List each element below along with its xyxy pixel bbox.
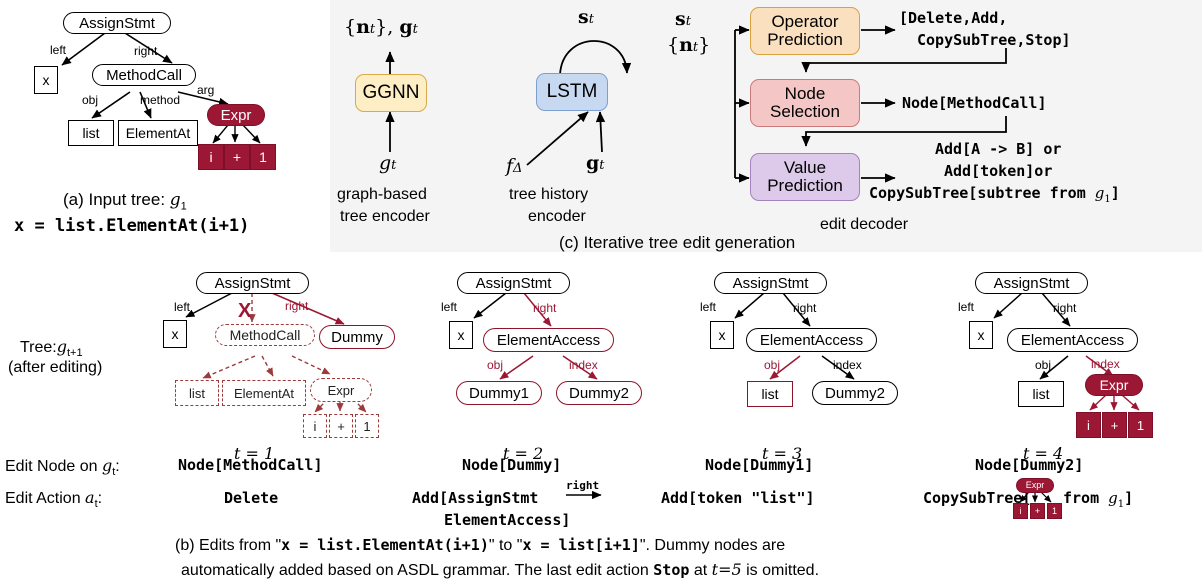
ggnn-label: GGNN [363, 83, 420, 103]
operator-prediction-line1: Operator [767, 13, 843, 31]
node-label: Dummy [331, 330, 383, 345]
node-label: MethodCall [106, 68, 182, 83]
caption-part: at [689, 562, 711, 579]
edit-action-value-t1: Delete [224, 489, 278, 507]
tree-row-label-text: Tree: [20, 339, 57, 356]
node-x-a: x [34, 66, 58, 94]
ggnn-output-label: {nt}, gt [344, 16, 418, 38]
operator-prediction-box: Operator Prediction [750, 7, 860, 55]
node-label: i [209, 150, 212, 164]
node-elementat-t1: ElementAt [222, 380, 306, 406]
node-label: ElementAt [126, 126, 191, 140]
edit-action-value-t3: Add[token "list"] [661, 489, 815, 507]
node-label: Dummy2 [569, 386, 629, 401]
node-selection-box: Node Selection [750, 79, 860, 127]
node-token-i-t4: i [1076, 412, 1101, 438]
node-elementat-a: ElementAt [118, 120, 198, 146]
node-dummy2-t3: Dummy2 [812, 381, 898, 405]
graph-encoder-caption-line1: graph-based [337, 186, 427, 204]
ggnn-input-label: gt [379, 152, 396, 174]
node-label: + [1035, 507, 1040, 516]
node-label: Expr [328, 384, 355, 397]
edit-node-row-label: Edit Node on gt: [5, 456, 120, 478]
node-selection-line1: Node [770, 85, 840, 103]
node-label: MethodCall [230, 328, 301, 342]
operator-output-line1: [Delete,Add, [899, 9, 1007, 27]
node-label: x [458, 328, 465, 342]
node-label: AssignStmt [476, 276, 552, 291]
edit-node-value-t3: Node[Dummy1] [705, 456, 813, 474]
node-label: + [1111, 419, 1119, 432]
node-token-1-t1: 1 [355, 414, 379, 438]
edit-action-value-t2-line2: ElementAccess] [444, 511, 570, 529]
node-x-t4: x [969, 321, 993, 349]
edit-node-row-label-symbol: g [102, 456, 112, 475]
node-assignstmt-t1: AssignStmt [196, 272, 309, 294]
node-list-t1: list [175, 380, 219, 406]
edit-node-value-t4: Node[Dummy2] [975, 456, 1083, 474]
edge-label-index-t3: index [833, 358, 862, 372]
node-label: ElementAt [234, 387, 294, 400]
node-expr-t4: Expr [1085, 374, 1143, 396]
edit-node-value-t1: Node[MethodCall] [178, 456, 323, 474]
node-token-plus-t4: + [1102, 412, 1127, 438]
value-output-line3: CopySubTree[subtree from g1] [869, 184, 1120, 205]
edge-label-left-a: left [50, 43, 66, 57]
node-label: 1 [259, 150, 267, 164]
caption-part: is omitted. [742, 562, 819, 579]
tree-row-label-sub: t+1 [67, 347, 83, 359]
edge-label-index-t4: index [1091, 357, 1120, 371]
edge-label-index-t2: index [569, 358, 598, 372]
panel-a-caption: (a) Input tree: g1 [63, 190, 187, 212]
ggnn-box: GGNN [355, 74, 427, 112]
node-methodcall-t1: MethodCall [215, 324, 315, 346]
inline-node-token-i: i [1013, 503, 1028, 519]
edge-label-right-a: right [134, 44, 157, 58]
value-output-line1: Add[A -> B] or [935, 140, 1061, 158]
node-elementaccess-t3: ElementAccess [746, 328, 877, 352]
node-label: 1 [363, 420, 370, 433]
edit-decoder-caption: edit decoder [820, 216, 908, 234]
edge-label-left-t3: left [700, 300, 716, 314]
node-dummy2-t2: Dummy2 [556, 381, 642, 405]
node-label: + [337, 420, 345, 433]
node-label: Expr [221, 108, 252, 123]
caption-part: (b) Edits from " [175, 537, 281, 554]
node-label: i [1087, 419, 1090, 432]
figure-root: AssignStmt x MethodCall list ElementAt E… [0, 0, 1202, 586]
node-x-t1: x [163, 320, 187, 348]
node-assignstmt-t4: AssignStmt [975, 272, 1088, 294]
edge-label-right-t4: right [1053, 301, 1076, 315]
decoder-input-st: st [675, 8, 691, 30]
node-assignstmt-t3: AssignStmt [714, 272, 827, 294]
node-x-t2: x [449, 321, 473, 349]
caption-code: x = list.ElementAt(i+1) [281, 536, 489, 554]
panel-c-caption: (c) Iterative tree edit generation [559, 233, 795, 253]
lstm-input-fdelta-label: fΔ [506, 155, 522, 177]
edge-label-left-t4: left [958, 300, 974, 314]
node-token-i-t1: i [303, 414, 327, 438]
edit-action-row-label-text: Edit Action [5, 490, 85, 507]
node-expr-t1: Expr [310, 378, 372, 402]
node-label: Dummy1 [469, 386, 529, 401]
node-token-plus-a: + [224, 144, 250, 170]
node-label: x [43, 73, 50, 87]
edit-action-row-label: Edit Action at: [5, 488, 102, 510]
edge-label-right-t2: right [533, 301, 556, 315]
edge-label-left-t1: left [174, 300, 190, 314]
node-label: Expr [1100, 378, 1129, 392]
value-prediction-line2: Prediction [767, 177, 843, 195]
edit-action-row-label-suffix: : [98, 490, 102, 507]
node-label: i [314, 420, 317, 433]
node-label: AssignStmt [79, 16, 155, 31]
caption-part: automatically added based on ASDL gramma… [181, 562, 653, 579]
node-label: list [189, 387, 205, 400]
lstm-state-label: st [578, 6, 594, 28]
edge-label-obj-t4: obj [1035, 358, 1051, 372]
panel-a-caption-text: (a) Input tree: [63, 190, 170, 209]
node-elementaccess-t4: ElementAccess [1007, 328, 1138, 352]
inline-node-token-plus: + [1030, 503, 1045, 519]
caption-part: ". Dummy nodes are [640, 537, 785, 554]
edge-label-right-t3: right [793, 301, 816, 315]
node-label: list [1032, 387, 1049, 401]
node-assignstmt-t2: AssignStmt [457, 272, 570, 294]
panel-b-row-label-tree: Tree:gt+1 [20, 337, 83, 359]
node-token-1-a: 1 [250, 144, 276, 170]
edit-node-row-label-suffix: : [115, 458, 119, 475]
node-label: list [761, 387, 778, 401]
node-selection-line2: Selection [770, 103, 840, 121]
node-label: i [1020, 507, 1022, 516]
node-label: ElementAccess [760, 333, 863, 348]
delete-marker-t1: X [238, 300, 251, 323]
edge-label-obj-a: obj [82, 93, 98, 107]
caption-code: x = list[i+1] [522, 536, 639, 554]
node-methodcall-a: MethodCall [92, 64, 196, 86]
tree-row-label-symbol: g [57, 337, 67, 356]
edge-label-obj-t2: obj [487, 358, 503, 372]
operator-output-line2: CopySubTree,Stop] [917, 31, 1071, 49]
node-label: AssignStmt [733, 276, 809, 291]
node-x-t3: x [710, 321, 734, 349]
history-encoder-caption-line1: tree history [509, 186, 588, 204]
node-list-t4: list [1018, 381, 1064, 407]
edge-label-right-t1: right [285, 299, 308, 313]
node-list-t3: list [747, 381, 793, 407]
node-dummy1-t2: Dummy1 [456, 381, 542, 405]
node-label: 1 [1137, 419, 1144, 432]
edit-node-row-label-text: Edit Node on [5, 458, 102, 475]
node-label: AssignStmt [215, 276, 291, 291]
node-label: x [978, 328, 985, 342]
operator-prediction-line2: Prediction [767, 31, 843, 49]
panel-b-row-label-tree-2: (after editing) [8, 359, 102, 377]
caption-part: " to " [489, 537, 523, 554]
edge-label-arg-a: arg [197, 83, 214, 97]
panel-b-caption-line2: automatically added based on ASDL gramma… [181, 560, 819, 580]
edit-action-row-label-symbol: a [85, 488, 95, 507]
node-label: ElementAccess [497, 333, 600, 348]
inline-node-expr: Expr [1016, 478, 1054, 493]
panel-b-caption-line1: (b) Edits from "x = list.ElementAt(i+1)"… [175, 536, 785, 555]
panel-a-caption-symbol: g [170, 190, 181, 210]
node-label: 1 [1052, 507, 1057, 516]
edge-label-left-t2: left [441, 300, 457, 314]
node-label: x [719, 328, 726, 342]
edit-action-value-t2-line1: Add[AssignStmt [412, 489, 538, 507]
lstm-input-gt-label: gt [586, 152, 605, 174]
node-token-plus-t1: + [329, 414, 353, 438]
node-token-1-t4: 1 [1128, 412, 1153, 438]
panel-a-code: x = list.ElementAt(i+1) [14, 216, 249, 236]
node-selection-output: Node[MethodCall] [902, 94, 1047, 112]
node-token-i-a: i [198, 144, 224, 170]
node-list-a: list [68, 120, 114, 146]
decoder-input-nt: {nt} [667, 34, 710, 56]
lstm-box: LSTM [536, 73, 608, 111]
node-label: list [82, 126, 99, 140]
value-output-line2: Add[token]or [944, 162, 1052, 180]
edit-node-value-t2: Node[Dummy] [462, 456, 561, 474]
node-label: + [233, 150, 241, 164]
edge-label-obj-t3: obj [764, 358, 780, 372]
value-prediction-line1: Value [767, 159, 843, 177]
node-label: Expr [1026, 481, 1045, 490]
edit-action-arrow-label-t2: right [566, 479, 599, 492]
caption-italic: t=5 [712, 560, 742, 579]
node-label: x [172, 327, 179, 341]
panel-a-caption-sub: 1 [181, 200, 187, 212]
node-dummy-t1: Dummy [319, 325, 395, 349]
node-label: Dummy2 [825, 386, 885, 401]
graph-encoder-caption-line2: tree encoder [340, 208, 430, 226]
caption-code: Stop [653, 561, 689, 579]
node-label: ElementAccess [1021, 333, 1124, 348]
lstm-label: LSTM [547, 82, 598, 102]
value-prediction-box: Value Prediction [750, 153, 860, 201]
node-elementaccess-t2: ElementAccess [483, 328, 614, 352]
history-encoder-caption-line2: encoder [528, 208, 586, 226]
edge-label-method-a: method [140, 93, 180, 107]
node-assignstmt-a: AssignStmt [63, 12, 171, 34]
node-expr-a: Expr [207, 104, 265, 126]
inline-node-token-1: 1 [1047, 503, 1062, 519]
node-label: AssignStmt [994, 276, 1070, 291]
edit-action-value-t4-line2: from g1] [1063, 489, 1133, 510]
